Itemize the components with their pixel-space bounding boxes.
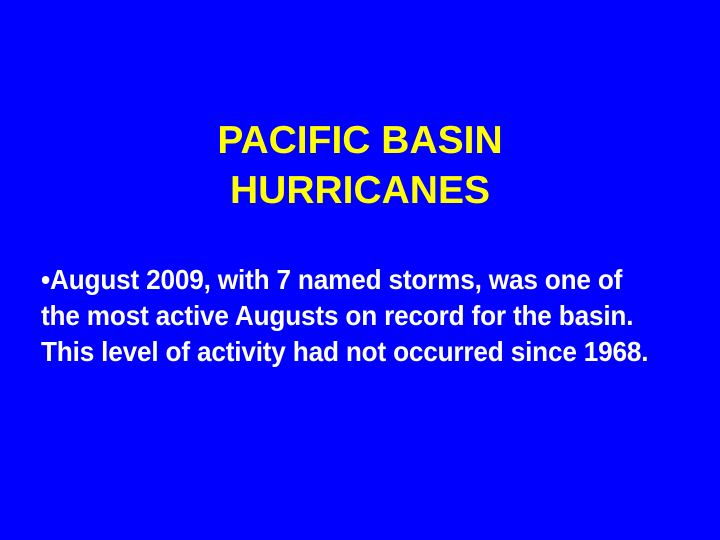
bullet-dot-icon: •	[41, 264, 50, 295]
slide-title: PACIFIC BASIN HURRICANES	[60, 116, 660, 216]
slide-body-text: •August 2009, with 7 named storms, was o…	[41, 262, 653, 370]
slide-title-line-2: HURRICANES	[60, 166, 660, 216]
slide-title-line-1: PACIFIC BASIN	[60, 116, 660, 166]
slide-body-paragraph: •August 2009, with 7 named storms, was o…	[41, 262, 653, 370]
presentation-slide: PACIFIC BASIN HURRICANES •August 2009, w…	[0, 0, 720, 540]
slide-body-content: August 2009, with 7 named storms, was on…	[41, 264, 648, 367]
